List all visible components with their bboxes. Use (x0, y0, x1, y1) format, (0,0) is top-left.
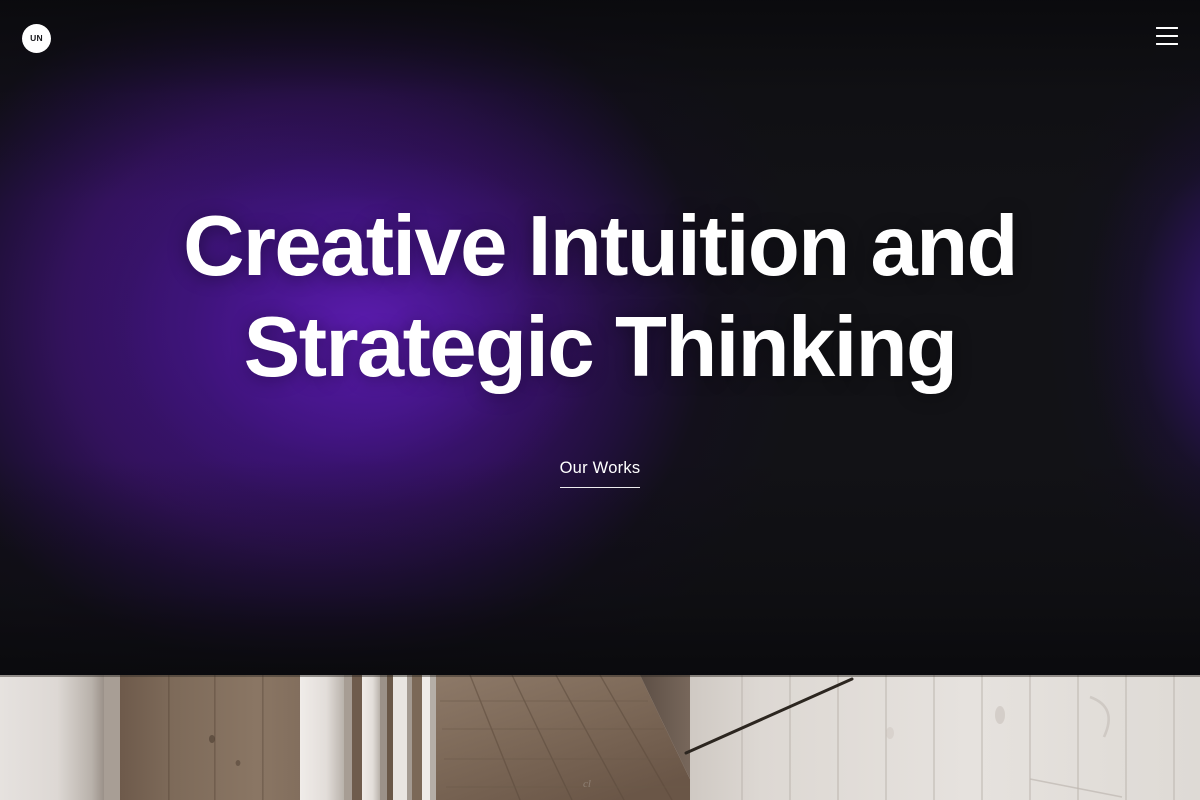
hero-headline-line-1: Creative Intuition and (0, 196, 1200, 297)
svg-text:cl: cl (583, 778, 591, 790)
hero-headline: Creative Intuition and Strategic Thinkin… (0, 196, 1200, 398)
hamburger-menu-icon[interactable] (1156, 27, 1178, 45)
architecture-photo: cl (0, 675, 1200, 800)
hamburger-bar-top (1156, 27, 1178, 29)
architecture-photo-section: cl (0, 675, 1200, 800)
hero-headline-line-2: Strategic Thinking (0, 297, 1200, 398)
hamburger-bar-bottom (1156, 43, 1178, 45)
hero-section: UN Creative Intuition and Strategic Thin… (0, 0, 1200, 675)
our-works-link[interactable]: Our Works (560, 460, 641, 488)
site-header: UN (0, 0, 1200, 76)
landing-page: UN Creative Intuition and Strategic Thin… (0, 0, 1200, 800)
hero-content: Creative Intuition and Strategic Thinkin… (0, 196, 1200, 488)
site-logo[interactable]: UN (22, 24, 51, 53)
site-logo-monogram: UN (30, 34, 43, 43)
hamburger-bar-middle (1156, 35, 1178, 37)
hero-cta-container: Our Works (0, 460, 1200, 488)
